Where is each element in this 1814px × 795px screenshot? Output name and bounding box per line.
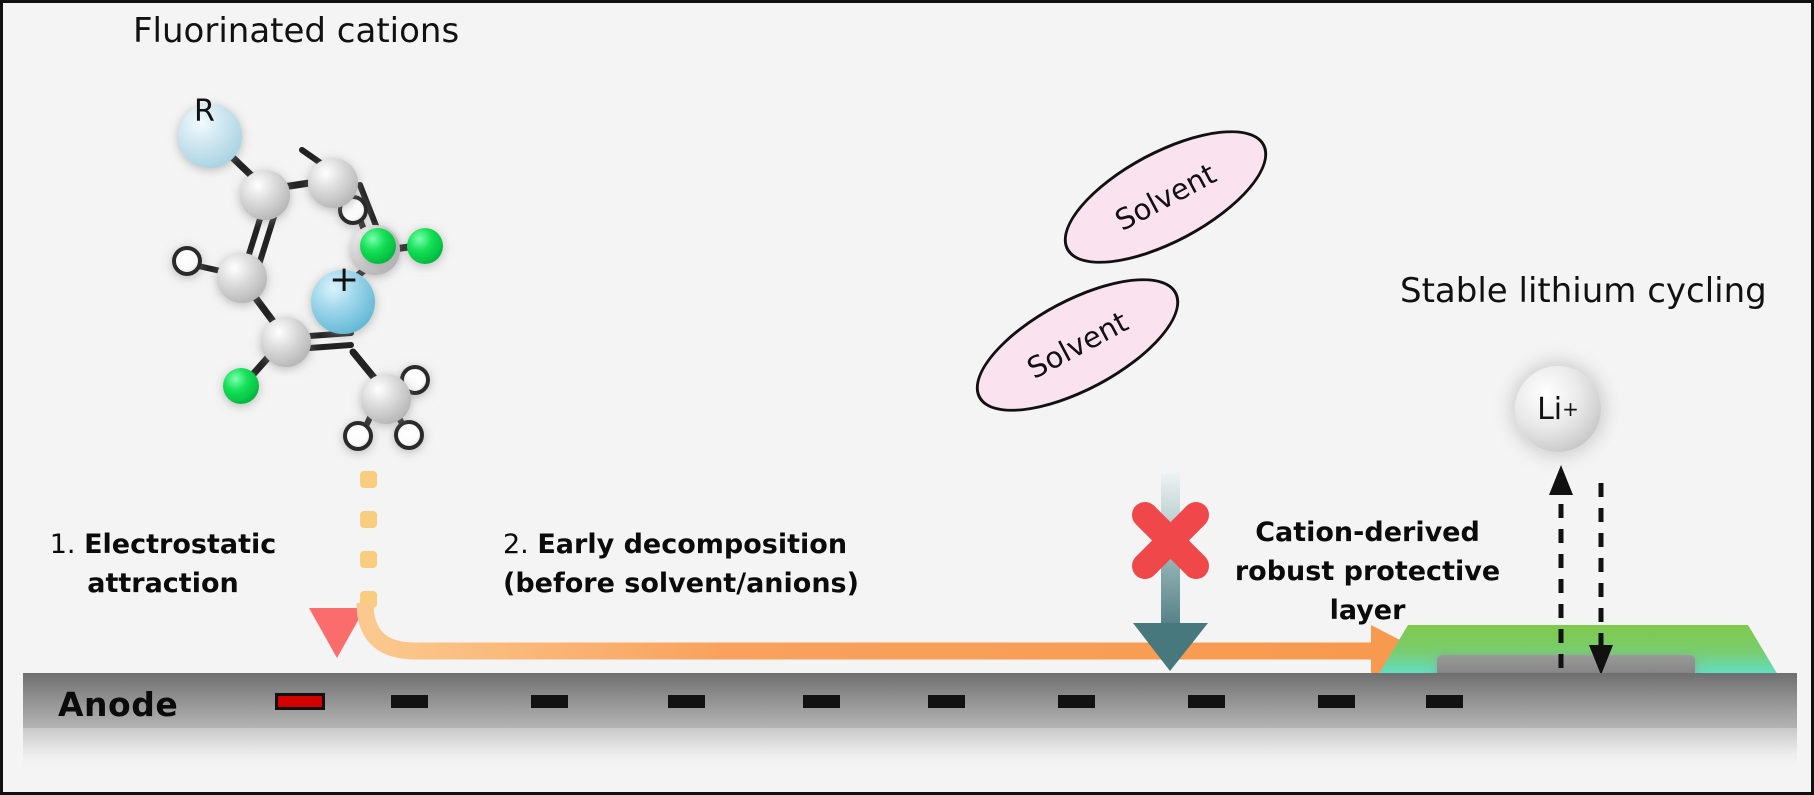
- electrostatic-arrow: [309, 333, 365, 658]
- step-2-number: 2.: [503, 529, 529, 560]
- atom-carbon: [240, 170, 290, 220]
- lithium-label: Li: [1537, 392, 1562, 427]
- solvent-label: Solvent: [1109, 156, 1221, 237]
- cation-charge-label: +: [329, 259, 359, 300]
- atom-carbon-methyl: [361, 374, 411, 424]
- atom-hydrogen: [345, 423, 371, 449]
- anode-charge-mark: [668, 695, 705, 708]
- page-title-stable-lithium-cycling: Stable lithium cycling: [1400, 271, 1767, 311]
- atom-fluorine: [360, 228, 396, 264]
- sei-protective-layer: [1378, 625, 1778, 680]
- r-group-label: R: [194, 94, 215, 129]
- step-2-line2: (before solvent/anions): [503, 568, 859, 599]
- anode-reflection: [23, 728, 1797, 766]
- step-1-line2: attraction: [87, 568, 239, 599]
- li-out-arrowhead: [1549, 465, 1573, 495]
- blocked-x-icon: [1145, 515, 1196, 566]
- anode-charge-mark: [391, 695, 428, 708]
- anode-charge-mark: [531, 695, 568, 708]
- solvent-label: Solvent: [1021, 304, 1133, 385]
- anode-charge-mark: [1426, 695, 1463, 708]
- decomposition-dots: [360, 471, 377, 608]
- anode-charge-mark: [928, 695, 965, 708]
- anode-charge-mark: [1058, 695, 1095, 708]
- step-1-line1: Electrostatic: [84, 529, 276, 560]
- atom-hydrogen: [174, 248, 200, 274]
- atom-carbon: [308, 158, 358, 208]
- atom-carbon: [261, 317, 311, 367]
- anode-label: Anode: [58, 685, 178, 724]
- page-title-fluorinated-cations: Fluorinated cations: [133, 11, 459, 51]
- step-1-number: 1.: [50, 529, 76, 560]
- atom-carbon: [217, 253, 267, 303]
- step-3-cation-derived-layer: Cation-derived robust protective layer: [1195, 513, 1540, 630]
- diagram-canvas: Fluorinated cations Stable lithium cycli…: [0, 0, 1814, 795]
- lithium-ion: Li+: [1515, 366, 1601, 452]
- step-2-line1: Early decomposition: [537, 529, 847, 560]
- atom-fluorine: [407, 228, 443, 264]
- anode-charge-mark: [1318, 695, 1355, 708]
- anode-charge-mark: [1188, 695, 1225, 708]
- atom-hydrogen: [396, 422, 422, 448]
- anode-charge-highlight: [275, 693, 325, 710]
- lithium-charge: +: [1562, 397, 1579, 421]
- atom-fluorine: [223, 368, 259, 404]
- step-1-electrostatic-attraction: 1. Electrostatic attraction: [33, 525, 293, 603]
- step-3-line2: robust protective layer: [1235, 556, 1500, 626]
- step-2-early-decomposition: 2. Early decomposition (before solvent/a…: [503, 525, 903, 603]
- anode-charge-mark: [803, 695, 840, 708]
- step-3-line1: Cation-derived: [1255, 517, 1480, 548]
